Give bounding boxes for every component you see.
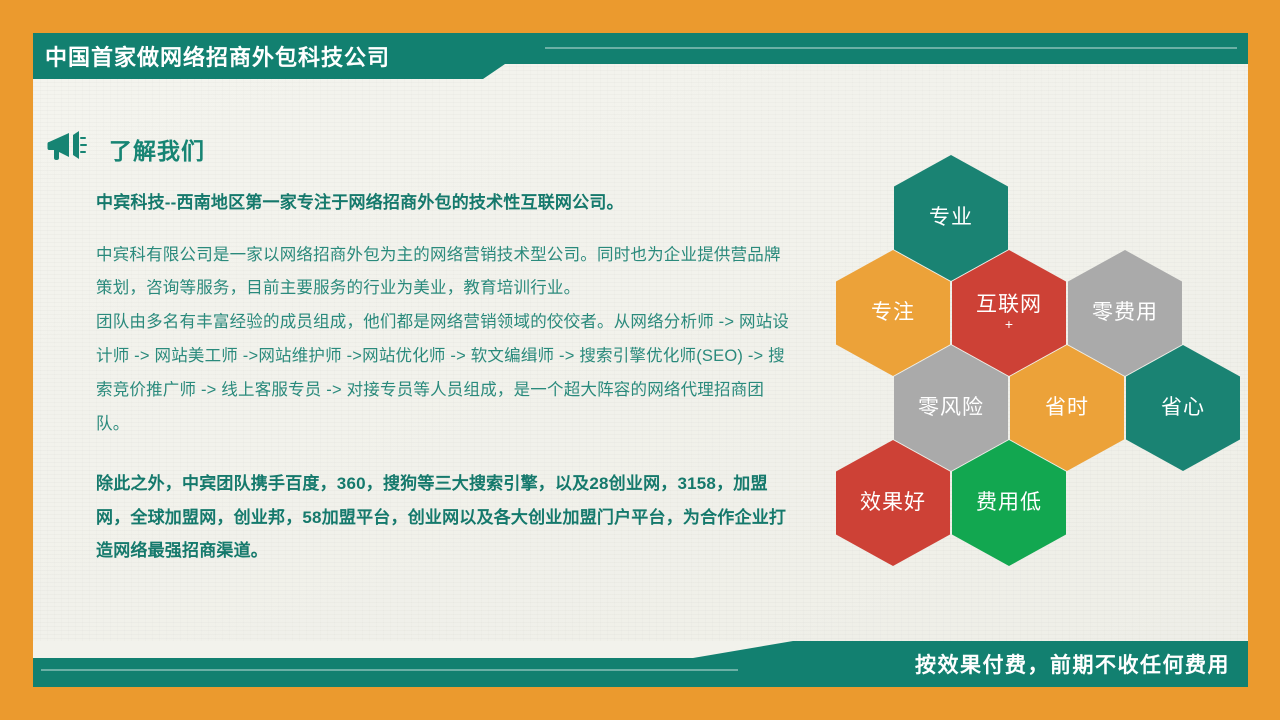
body-paragraph-1: 中宾科有限公司是一家以网络招商外包为主的网络营销技术型公司。同时也为企业提供营品… [96,239,796,307]
page-title: 中国首家做网络招商外包科技公司 [45,40,390,72]
lead-statement: 中宾科技--西南地区第一家专注于网络招商外包的技术性互联网公司。 [96,190,796,216]
hex-label: 互联网 [976,293,1042,317]
hex-label: 省心 [1161,396,1205,420]
closing-paragraph: 除此之外，中宾团队携手百度，360，搜狗等三大搜索引擎，以及28创业网，3158… [96,467,796,566]
footer-slogan: 按效果付费，前期不收任何费用 [915,649,1230,679]
hex-label: 专注 [871,301,915,325]
footer-accent-line [41,669,738,671]
megaphone-icon [47,131,87,166]
hex-label: 零费用 [1092,301,1158,325]
advantage-hex-cluster: 专业专注互联网+零费用零风险省时省心效果好费用低 [836,155,1236,535]
section-title: 了解我们 [109,132,205,166]
hex-label: 专业 [929,206,973,230]
about-text-column: 中宾科技--西南地区第一家专注于网络招商外包的技术性互联网公司。 中宾科有限公司… [96,190,796,567]
hex-sublabel: + [1005,317,1013,333]
slide-root: 中国首家做网络招商外包科技公司 了解我们 中宾科技--西南地区第一家专注于网络招… [0,0,1280,720]
section-heading: 了解我们 [47,131,205,166]
hex-label: 零风险 [918,396,984,420]
header-accent-line [545,47,1237,49]
hex-label: 省时 [1045,396,1089,420]
hex-label: 费用低 [976,491,1042,515]
footer-band: 按效果付费，前期不收任何费用 [33,641,1248,687]
header-band: 中国首家做网络招商外包科技公司 [33,33,1248,79]
body-paragraph-2: 团队由多名有丰富经验的成员组成，他们都是网络营销领域的佼佼者。从网络分析师 ->… [96,306,796,441]
hex-label: 效果好 [860,491,926,515]
